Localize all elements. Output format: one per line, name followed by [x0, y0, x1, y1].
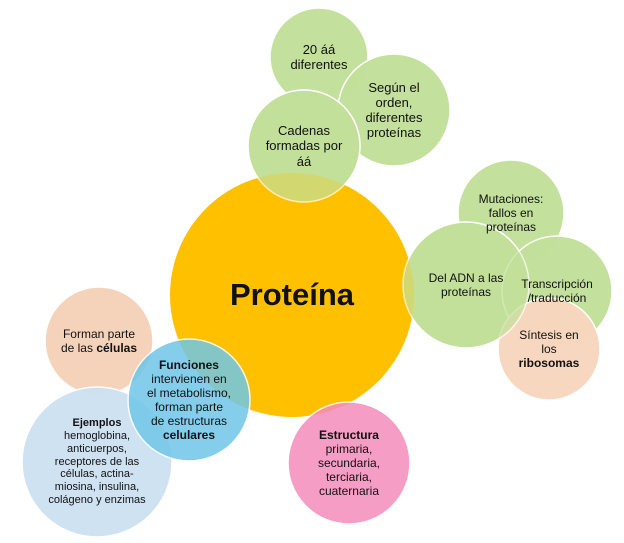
bubble-overlap-adn[interactable] [403, 222, 529, 348]
bubble-estructura[interactable] [288, 402, 410, 524]
bubble-overlap-cadenas[interactable] [248, 90, 360, 202]
bubble-funciones[interactable] [128, 339, 250, 461]
bubble-canvas [0, 0, 624, 543]
concept-map-diagram: 20 áádiferentesSegún elorden,diferentesp… [0, 0, 624, 543]
bubbles-layer [22, 8, 612, 537]
